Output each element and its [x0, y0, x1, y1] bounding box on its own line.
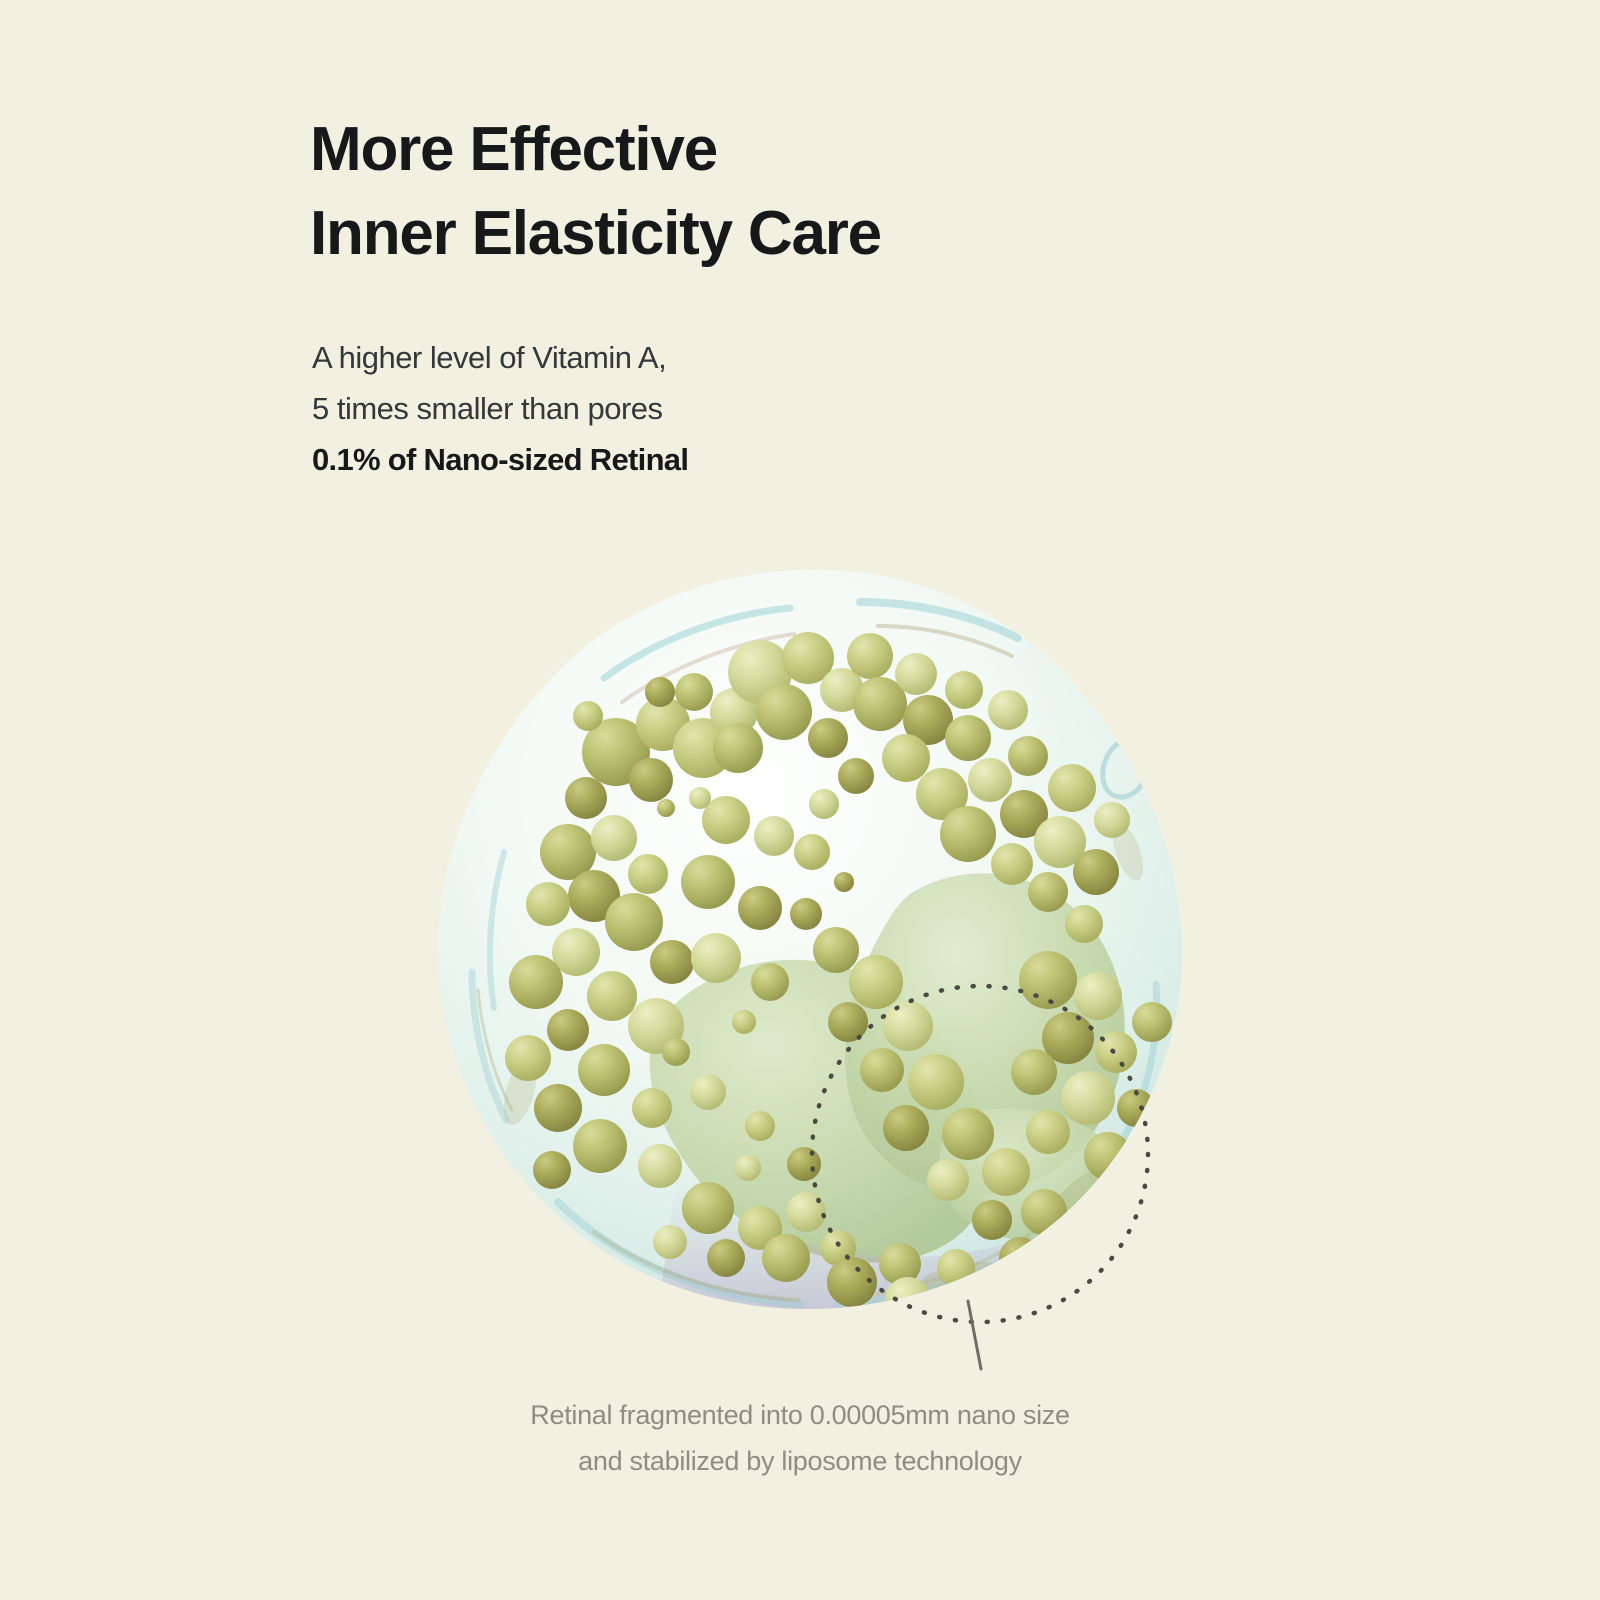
subtitle-line-1: A higher level of Vitamin A, — [312, 333, 688, 384]
caption-leader-line — [960, 1299, 984, 1371]
caption-line-2: and stabilized by liposome technology — [0, 1438, 1600, 1484]
illustration-caption: Retinal fragmented into 0.00005mm nano s… — [0, 1392, 1600, 1485]
liposome-svg — [408, 552, 1208, 1352]
subtitle-block: A higher level of Vitamin A, 5 times sma… — [312, 333, 688, 485]
product-infographic-canvas: More Effective Inner Elasticity Care A h… — [0, 0, 1600, 1600]
liposome-illustration — [408, 552, 1208, 1352]
caption-line-1: Retinal fragmented into 0.00005mm nano s… — [0, 1392, 1600, 1438]
page-title: More Effective Inner Elasticity Care — [310, 108, 881, 277]
subtitle-line-2: 5 times smaller than pores — [312, 384, 688, 435]
subtitle-line-3-emphasis: 0.1% of Nano-sized Retinal — [312, 435, 688, 486]
